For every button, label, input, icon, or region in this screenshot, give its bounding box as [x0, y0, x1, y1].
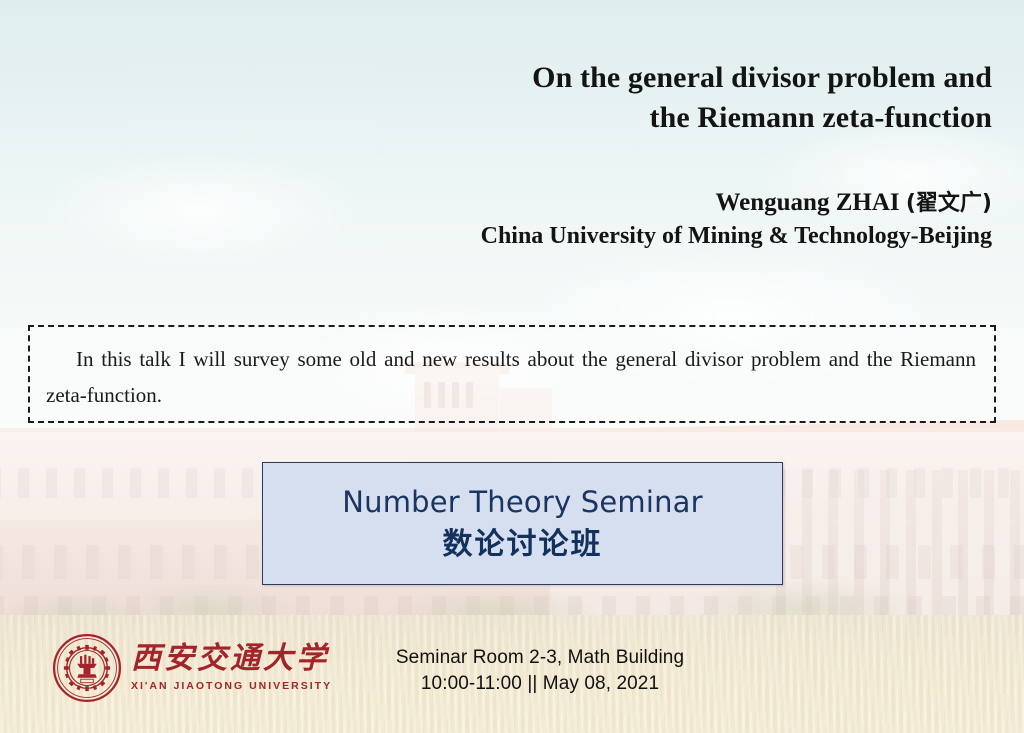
- title-line-1: On the general divisor problem and: [300, 58, 992, 98]
- speaker-block: Wenguang ZHAI (翟文广) China University of …: [280, 186, 992, 252]
- abstract-text: In this talk I will survey some old and …: [46, 341, 976, 413]
- abstract-box: In this talk I will survey some old and …: [28, 325, 996, 423]
- logo-name-english: XI'AN JIAOTONG UNIVERSITY: [131, 681, 332, 692]
- speaker-name-chinese: (翟文广): [906, 191, 992, 216]
- logo-name-chinese: 西安交通大学: [131, 644, 332, 674]
- xjtu-seal-icon: [52, 633, 122, 703]
- speaker-name: Wenguang ZHAI (翟文广): [280, 186, 992, 220]
- logo-wordmark: 西安交通大学 XI'AN JIAOTONG UNIVERSITY: [131, 644, 332, 692]
- seminar-poster: On the general divisor problem and the R…: [0, 0, 1024, 733]
- seminar-name-english: Number Theory Seminar: [342, 482, 703, 522]
- seminar-name-chinese: 数论讨论班: [443, 524, 603, 566]
- event-time: 10:00-11:00 || May 08, 2021: [312, 671, 768, 697]
- seminar-title-panel: Number Theory Seminar 数论讨论班: [262, 462, 783, 585]
- speaker-name-latin: Wenguang ZHAI: [716, 189, 900, 216]
- poster-title: On the general divisor problem and the R…: [300, 58, 992, 138]
- title-line-2: the Riemann zeta-function: [300, 98, 992, 138]
- event-details: Seminar Room 2-3, Math Building 10:00-11…: [312, 645, 768, 697]
- speaker-affiliation: China University of Mining & Technology-…: [280, 220, 992, 252]
- university-logo: 西安交通大学 XI'AN JIAOTONG UNIVERSITY: [52, 630, 304, 706]
- event-venue: Seminar Room 2-3, Math Building: [312, 645, 768, 671]
